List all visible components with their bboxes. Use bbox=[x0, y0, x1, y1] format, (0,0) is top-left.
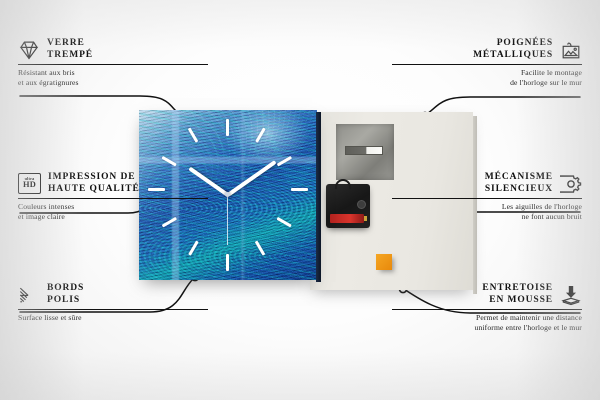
picture-hanger-icon bbox=[560, 39, 582, 61]
callout-title-line2: SILENCIEUX bbox=[485, 184, 553, 196]
metal-hanger bbox=[336, 124, 394, 180]
callout-divider bbox=[18, 198, 208, 199]
clock-second-hand bbox=[227, 193, 228, 245]
foam-spacer bbox=[376, 254, 392, 270]
callout-desc-line1: Permet de maintenir une distance bbox=[392, 313, 582, 323]
callout-title-line1: BORDS bbox=[47, 283, 84, 295]
callout-desc-line2: ne font aucun bruit bbox=[392, 212, 582, 222]
callout-divider bbox=[392, 309, 582, 310]
callout-impression-haute-qualite: ultra HD IMPRESSION DE HAUTE QUALITÉ Cou… bbox=[18, 172, 208, 221]
callout-bords-polis: BORDS POLIS Surface lisse et sûre bbox=[18, 283, 208, 323]
callout-divider bbox=[392, 198, 582, 199]
callout-title-line1: ENTRETOISE bbox=[482, 283, 553, 295]
callout-title-line1: POIGNÉES bbox=[473, 38, 553, 50]
callout-desc-line2: et image claire bbox=[18, 212, 208, 222]
callout-mecanisme-silencieux: MÉCANISME SILENCIEUX Les aiguilles de l'… bbox=[392, 172, 582, 221]
callout-desc-line2: de l'horloge sur le mur bbox=[392, 78, 582, 88]
callout-entretoise-en-mousse: ENTRETOISE EN MOUSSE Permet de maintenir… bbox=[392, 283, 582, 332]
callout-desc-line1: Les aiguilles de l'horloge bbox=[392, 202, 582, 212]
callout-desc-line1: Facilite le montage bbox=[392, 68, 582, 78]
callout-divider bbox=[18, 64, 208, 65]
clock-tick bbox=[291, 188, 308, 191]
diamond-icon bbox=[18, 39, 40, 61]
callout-poignees-metalliques: POIGNÉES MÉTALLIQUES Facilite le montage… bbox=[392, 38, 582, 87]
callout-title-line1: MÉCANISME bbox=[485, 172, 553, 184]
clock-center-hub bbox=[225, 192, 230, 197]
callout-title-line1: VERRE bbox=[47, 38, 93, 50]
callout-desc-line2: et aux égratignures bbox=[18, 78, 208, 88]
callout-divider bbox=[18, 309, 208, 310]
foam-spacer-icon bbox=[560, 284, 582, 306]
gear-icon bbox=[560, 173, 582, 195]
callout-desc-line2: uniforme entre l'horloge et le mur bbox=[392, 323, 582, 333]
mechanism-battery bbox=[330, 214, 364, 223]
callout-title-line2: EN MOUSSE bbox=[482, 295, 553, 307]
mechanism-dial bbox=[357, 200, 366, 209]
callout-verre-trempe: VERRE TREMPÉ Résistant aux bris et aux é… bbox=[18, 38, 208, 87]
callout-desc-line1: Couleurs intenses bbox=[18, 202, 208, 212]
callout-title-line2: MÉTALLIQUES bbox=[473, 50, 553, 62]
polished-edges-icon bbox=[18, 284, 40, 306]
callout-title-line2: TREMPÉ bbox=[47, 50, 93, 62]
metal-hanger-slot bbox=[345, 146, 383, 155]
callout-title-line2: POLIS bbox=[47, 295, 84, 307]
callout-divider bbox=[392, 64, 582, 65]
callout-title-line2: HAUTE QUALITÉ bbox=[48, 184, 140, 196]
clock-mechanism bbox=[326, 184, 370, 228]
infographic-canvas: VERRE TREMPÉ Résistant aux bris et aux é… bbox=[0, 0, 600, 400]
callout-desc-line1: Surface lisse et sûre bbox=[18, 313, 208, 323]
callout-desc-line1: Résistant aux bris bbox=[18, 68, 208, 78]
clock-tick bbox=[226, 119, 229, 136]
mechanism-hook bbox=[335, 179, 351, 189]
ultra-hd-icon-main: HD bbox=[23, 181, 36, 190]
clock-tick bbox=[226, 254, 229, 271]
callout-title-line1: IMPRESSION DE bbox=[48, 172, 140, 184]
ultra-hd-icon: ultra HD bbox=[18, 173, 41, 194]
